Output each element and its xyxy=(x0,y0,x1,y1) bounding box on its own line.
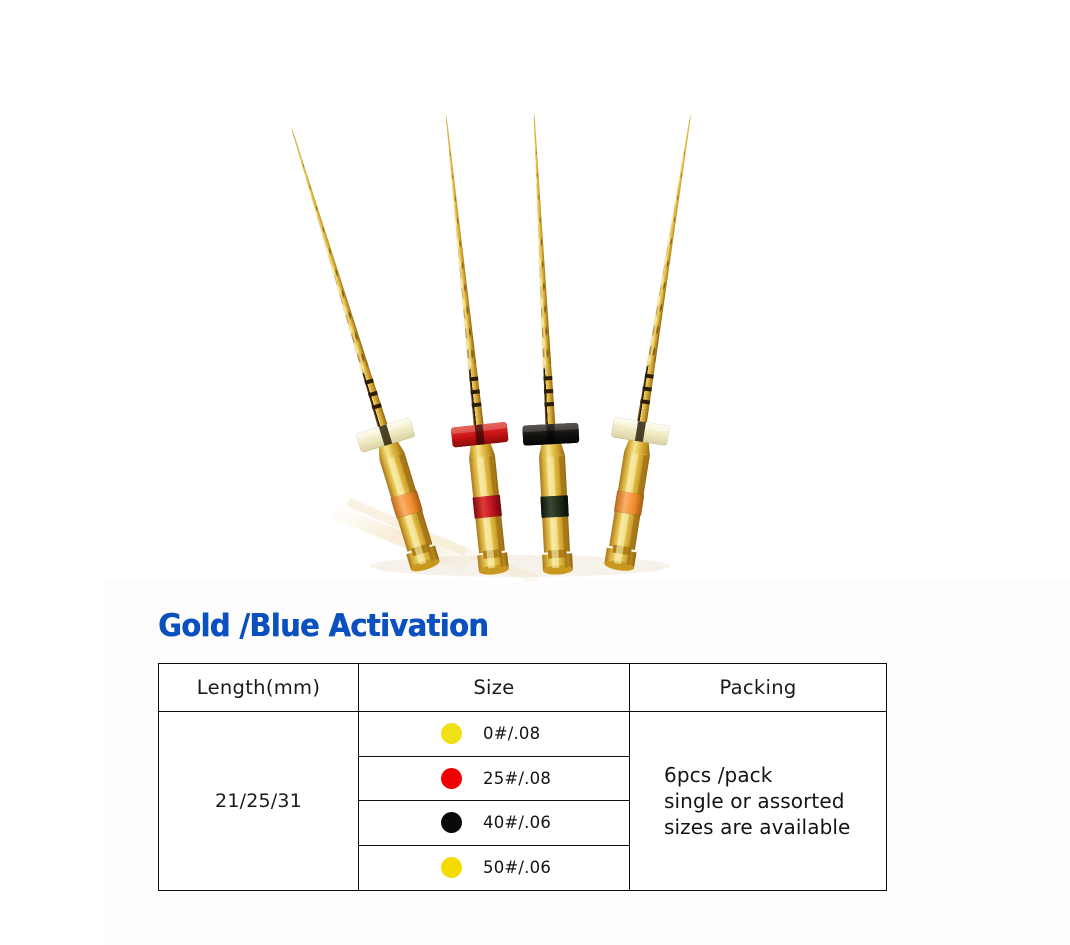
color-dot-icon xyxy=(441,857,462,878)
size-row: 0#/.08 xyxy=(359,712,629,757)
page-title: Gold /Blue Activation xyxy=(158,608,488,644)
header-packing: Packing xyxy=(630,664,886,711)
packing-line-2: single or assorted xyxy=(664,788,850,814)
size-label: 0#/.08 xyxy=(483,724,540,743)
table-body-row: 21/25/31 0#/.08 25#/.08 40#/.06 50#/.06 xyxy=(159,712,886,890)
cell-length-value: 21/25/31 xyxy=(159,712,358,890)
cell-size-list: 0#/.08 25#/.08 40#/.06 50#/.06 xyxy=(358,712,630,890)
color-dot-icon xyxy=(441,768,462,789)
product-photo xyxy=(0,0,1070,585)
endo-file-2 xyxy=(418,110,522,577)
size-label: 50#/.06 xyxy=(483,858,551,877)
header-size: Size xyxy=(358,664,630,711)
endo-file-4 xyxy=(591,108,719,575)
size-row: 40#/.06 xyxy=(359,801,629,846)
size-label: 25#/.08 xyxy=(483,769,551,788)
size-label: 40#/.06 xyxy=(483,813,551,832)
packing-line-3: sizes are available xyxy=(664,814,850,840)
specification-table: Length(mm) Size Packing 21/25/31 0#/.08 … xyxy=(158,663,887,891)
size-row: 50#/.06 xyxy=(359,846,629,891)
table-header-row: Length(mm) Size Packing xyxy=(159,664,886,712)
packing-text: 6pcs /pack single or assorted sizes are … xyxy=(664,762,850,840)
packing-line-1: 6pcs /pack xyxy=(664,762,850,788)
specification-panel: Gold /Blue Activation Length(mm) Size Pa… xyxy=(103,581,1070,945)
endodontic-files-illustration xyxy=(0,0,1070,585)
size-row: 25#/.08 xyxy=(359,757,629,802)
cell-packing-value: 6pcs /pack single or assorted sizes are … xyxy=(630,712,886,890)
header-length: Length(mm) xyxy=(159,664,358,711)
color-dot-icon xyxy=(441,723,462,744)
color-dot-icon xyxy=(441,812,462,833)
endo-file-3 xyxy=(506,110,586,576)
